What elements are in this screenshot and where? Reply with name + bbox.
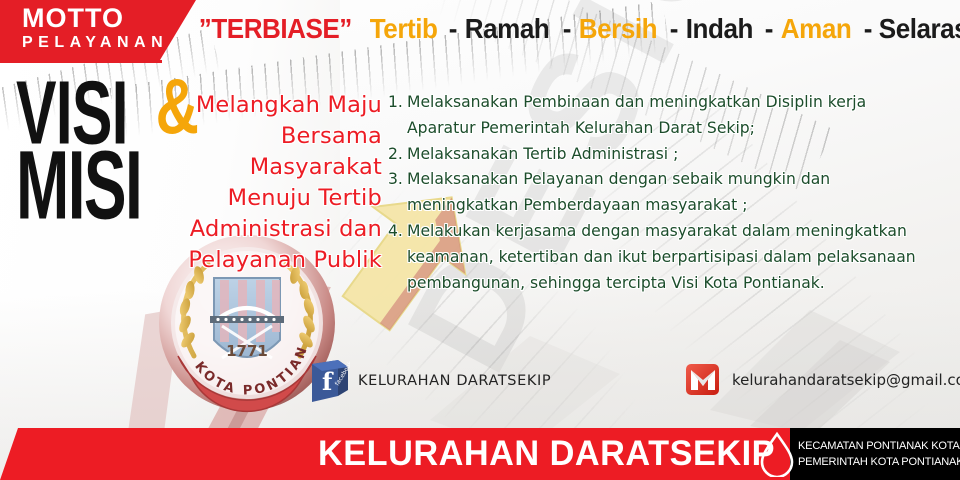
vision-line-3: Masyarakat [172, 152, 382, 183]
facebook-contact[interactable]: f facebook KELURAHAN DARATSEKIP [308, 358, 551, 404]
slogan-separator: - [666, 13, 682, 45]
slogan-separator: - [761, 13, 777, 45]
poster-root: DESIGN [0, 0, 960, 480]
slogan-separator: - [445, 13, 461, 45]
footer-title: KELURAHAN DARATSEKIP [318, 434, 775, 474]
footer-bar: KELURAHAN DARATSEKIP KECAMATAN PONTIANAK… [0, 428, 960, 480]
motto-underline [0, 60, 162, 63]
facebook-label: KELURAHAN DARATSEKIP [358, 373, 551, 389]
gmail-icon[interactable] [683, 360, 723, 400]
slogan-word-3: Ramah [462, 13, 552, 45]
mission-line-3-1: Melaksanakan Pelayanan dengan sebaik mun… [407, 167, 954, 193]
svg-text:f: f [322, 367, 334, 396]
mission-item-text: Melaksanakan Pelayanan dengan sebaik mun… [407, 167, 954, 219]
mission-item-number: 4. [388, 219, 407, 245]
footer-subtitle-1: KECAMATAN PONTIANAK KOTA [798, 438, 960, 454]
gmail-contact[interactable]: kelurahandaratsekip@gmail.com [683, 360, 960, 400]
vision-line-5: Administrasi dan [172, 214, 382, 245]
mission-item-text: Melaksanakan Pembinaan dan meningkatkan … [407, 90, 954, 142]
vision-line-4: Menuju Tertib [172, 183, 382, 214]
slogan-word-0: ”TERBIASE” [196, 13, 355, 45]
slogan-separator: - [860, 13, 876, 45]
mission-line-3-2: meningkatkan Pemberdayaan masyarakat ; [407, 193, 954, 219]
slogan-word-11: Selaras [876, 13, 960, 45]
mission-line-2-1: Melaksanakan Tertib Administrasi ; [407, 142, 954, 168]
motto-slogan: ”TERBIASE”Tertib-Ramah-Bersih-Indah-Aman… [196, 8, 952, 50]
facebook-icon[interactable]: f facebook [308, 358, 350, 404]
mission-item: 1.Melaksanakan Pembinaan dan meningkatka… [388, 90, 954, 142]
page-title: VISI& MISI [16, 76, 196, 211]
vision-line-6: Pelayanan Publik [172, 245, 382, 276]
mission-item-number: 1. [388, 90, 407, 116]
slogan-word-5: Bersih [576, 13, 660, 45]
mission-item-number: 3. [388, 167, 407, 193]
gmail-label: kelurahandaratsekip@gmail.com [732, 371, 960, 389]
vision-line-2: Bersama [172, 121, 382, 152]
mission-line-1-1: Melaksanakan Pembinaan dan meningkatkan … [407, 90, 954, 116]
mission-item: 4.Melakukan kerjasama dengan masyarakat … [388, 219, 954, 296]
slogan-word-9: Aman [778, 13, 854, 45]
footer-subtitle-2: PEMERINTAH KOTA PONTIANAK [798, 454, 960, 470]
slogan-separator: - [559, 13, 575, 45]
vision-line-1: Melangkah Maju [172, 90, 382, 121]
slogan-word-1: Tertib [367, 13, 440, 45]
mission-item-number: 2. [388, 142, 407, 168]
mission-item-text: Melaksanakan Tertib Administrasi ; [407, 142, 954, 168]
vision-statement: Melangkah MajuBersamaMasyarakatMenuju Te… [172, 90, 382, 276]
emblem-year: 1771 [226, 342, 268, 360]
mission-item: 3.Melaksanakan Pelayanan dengan sebaik m… [388, 167, 954, 219]
slogan-word-7: Indah [683, 13, 756, 45]
motto-label: MOTTO [22, 3, 124, 33]
mission-item: 2.Melaksanakan Tertib Administrasi ; [388, 142, 954, 168]
droplet-icon [758, 431, 796, 477]
pelayanan-label: PELAYANAN [22, 33, 168, 53]
mission-line-4-3: pembangunan, sehingga tercipta Visi Kota… [407, 271, 954, 297]
mission-line-4-2: keamanan, ketertiban dan ikut berpartisi… [407, 245, 954, 271]
footer-black-panel: KECAMATAN PONTIANAK KOTA PEMERINTAH KOTA… [790, 428, 960, 480]
mission-list: 1.Melaksanakan Pembinaan dan meningkatka… [388, 90, 954, 296]
mission-item-text: Melakukan kerjasama dengan masyarakat da… [407, 219, 954, 296]
mission-line-1-2: Aparatur Pemerintah Kelurahan Darat Seki… [407, 116, 954, 142]
mission-line-4-1: Melakukan kerjasama dengan masyarakat da… [407, 219, 954, 245]
title-misi: MISI [16, 144, 141, 226]
